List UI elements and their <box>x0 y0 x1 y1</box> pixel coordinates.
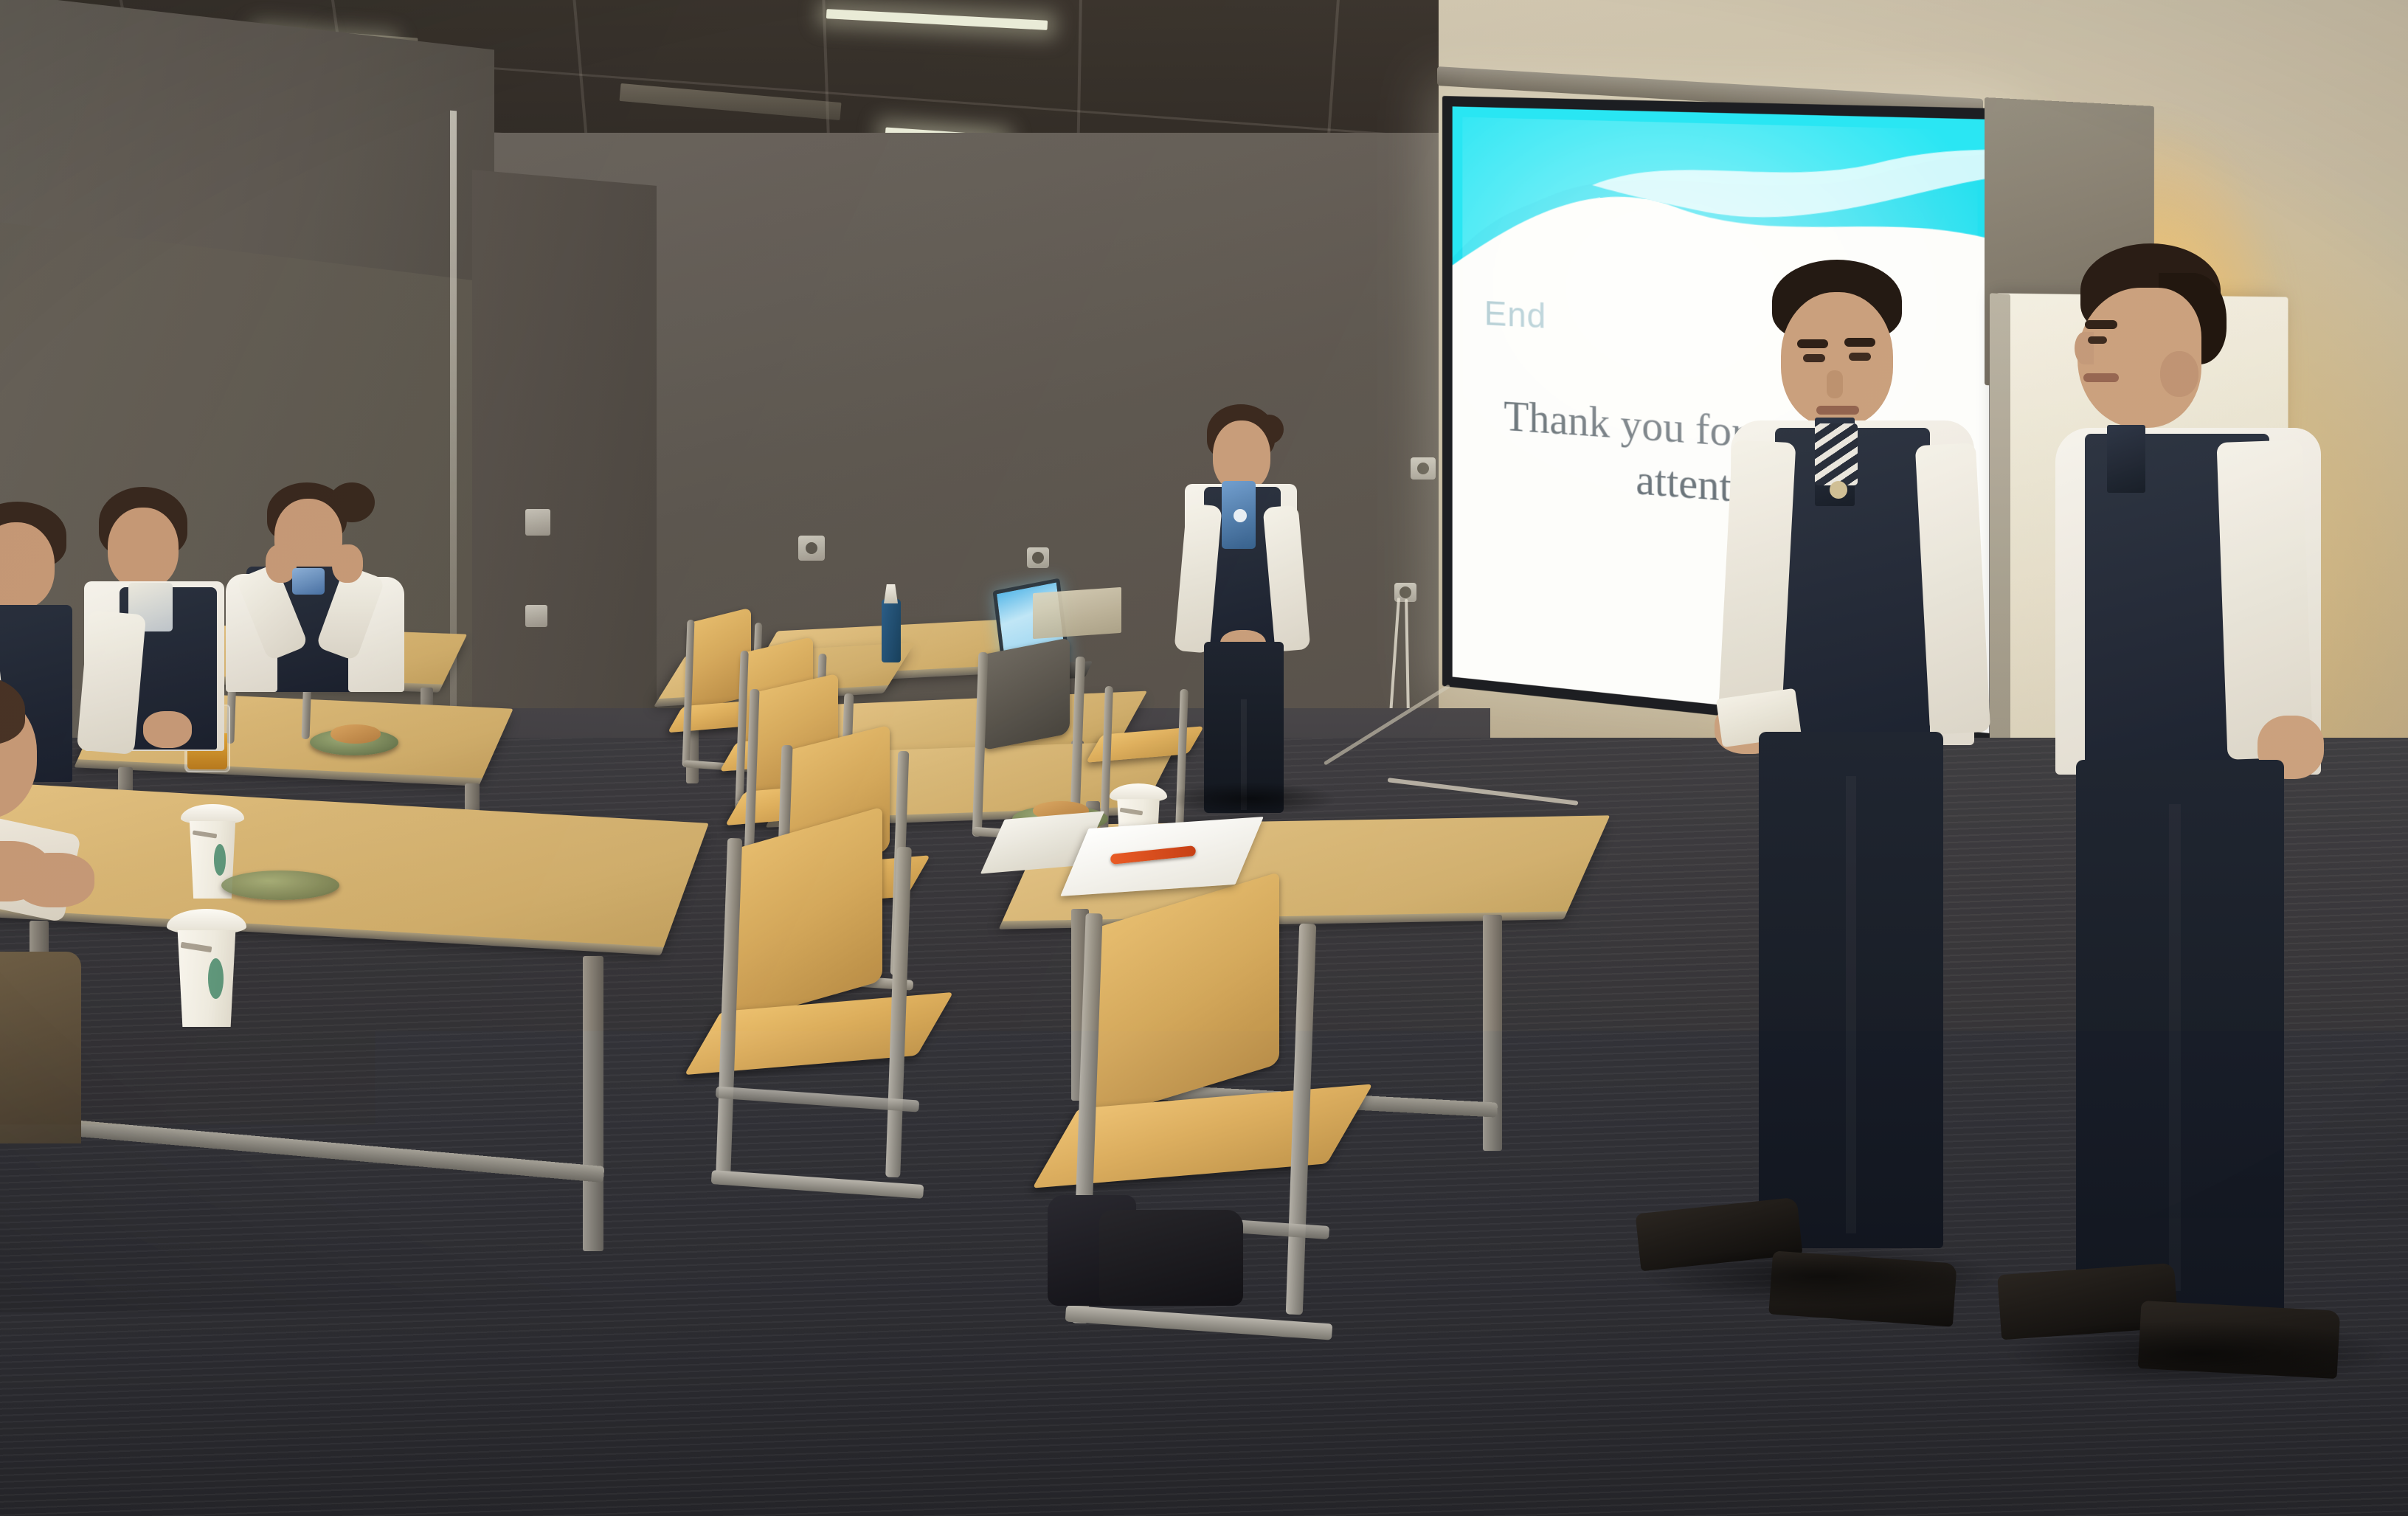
paper-stack <box>1033 587 1121 639</box>
light-switch-icon[interactable] <box>525 509 550 536</box>
door-frame <box>450 111 457 775</box>
trouser-crease <box>2169 804 2181 1291</box>
power-socket-icon <box>1411 457 1436 480</box>
ceiling-light-strip <box>826 9 1048 30</box>
eyebrow <box>2085 320 2117 329</box>
eye <box>2088 336 2107 344</box>
mouth <box>1816 406 1859 415</box>
trouser-crease <box>1846 776 1856 1233</box>
person-lap <box>0 952 81 1143</box>
slide-title: End <box>1484 293 1546 336</box>
photo-scene: End Thank you for your kind attention <box>0 0 2408 1516</box>
eyebrow <box>1844 338 1875 347</box>
nose <box>1827 370 1843 398</box>
chair-foreground-left[interactable] <box>708 828 952 1219</box>
power-socket-icon <box>1027 547 1049 568</box>
person-presenter-mid <box>1726 260 2036 1263</box>
bag-on-floor <box>1099 1210 1243 1306</box>
trouser-crease <box>1241 699 1247 810</box>
power-socket-icon <box>798 536 825 561</box>
light-switch-icon[interactable] <box>525 605 547 627</box>
table-leg <box>583 956 603 1251</box>
eyebrow <box>1797 339 1828 348</box>
person-audience-4 <box>0 708 229 1121</box>
mouth <box>2083 373 2119 382</box>
water-bottle <box>882 599 901 662</box>
eye <box>1849 353 1871 361</box>
plate <box>221 871 339 900</box>
eye <box>1803 354 1825 362</box>
ear <box>2160 351 2198 397</box>
person-presenter-right <box>2014 243 2361 1291</box>
necktie-pattern <box>1815 423 1858 485</box>
door[interactable] <box>472 170 657 747</box>
scarf-pin-icon <box>1234 509 1247 522</box>
person-presenter-left <box>1172 404 1319 817</box>
tie-pin-icon <box>1830 481 1847 499</box>
